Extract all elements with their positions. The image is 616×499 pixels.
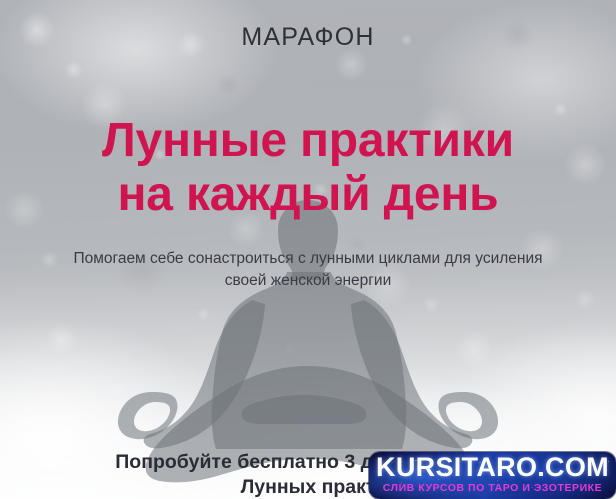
page-title: Лунные практики на каждый день (0, 114, 616, 222)
poster-eyebrow-label: МАРАФОН (0, 25, 616, 50)
watermark-domain-text: KURSITARO.COM (369, 453, 616, 482)
headline-line-1: Лунные практики (0, 114, 616, 168)
kursitaro-watermark-badge[interactable]: KURSITARO.COM СЛИВ КУРСОВ ПО ТАРО И ЭЗОТ… (369, 452, 616, 499)
poster-subtitle: Помогаем себе сонастроиться с лунными ци… (0, 248, 616, 293)
subtitle-line-2: своей женской энергии (0, 270, 616, 292)
watermark-tagline-text: СЛИВ КУРСОВ ПО ТАРО И ЭЗОТЕРИКЕ (369, 483, 616, 494)
lunar-practices-promo-poster: МАРАФОН Лунные практики на каждый день П… (0, 0, 616, 499)
subtitle-line-1: Помогаем себе сонастроиться с лунными ци… (0, 248, 616, 270)
headline-line-2: на каждый день (0, 168, 616, 222)
